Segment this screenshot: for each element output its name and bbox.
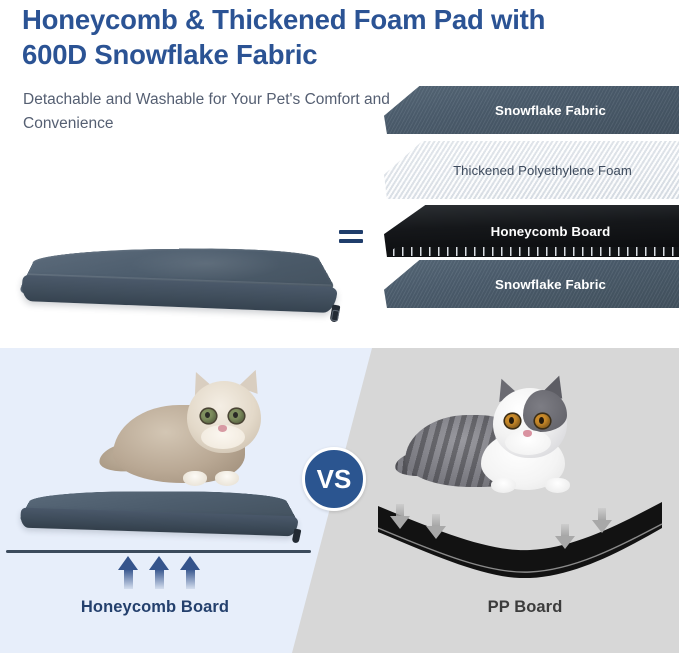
- layer-snowflake-fabric-bottom: Snowflake Fabric: [384, 260, 679, 308]
- layer-label: Honeycomb Board: [453, 224, 611, 239]
- zipper-pull-icon: [330, 304, 341, 322]
- layer-thickened-polyethylene-foam: Thickened Polyethylene Foam: [384, 141, 679, 199]
- layer-label: Snowflake Fabric: [457, 103, 606, 118]
- cat-left-image: [97, 363, 272, 503]
- layer-stack-diagram: Snowflake Fabric Thickened Polyethylene …: [384, 86, 679, 312]
- arrow-down-icon: [426, 514, 446, 540]
- assembled-pad-image: [10, 205, 355, 330]
- layer-honeycomb-board: Honeycomb Board: [384, 205, 679, 257]
- honeycomb-corrugation: [384, 247, 679, 256]
- comparison-right-label: PP Board: [380, 598, 670, 617]
- equals-sign-icon: [339, 230, 363, 246]
- cat-eye-left: [505, 414, 520, 428]
- cat-eye-right: [229, 409, 244, 423]
- arrow-down-icon: [592, 508, 612, 534]
- baseline-rule-left: [6, 550, 311, 553]
- layer-label: Snowflake Fabric: [457, 277, 606, 292]
- arrow-up-icon: [180, 556, 201, 589]
- layer-label: Thickened Polyethylene Foam: [431, 163, 632, 178]
- upward-force-arrows: [118, 556, 203, 590]
- page-title: Honeycomb & Thickened Foam Pad with 600D…: [22, 2, 582, 72]
- page-subtitle: Detachable and Washable for Your Pet's C…: [23, 88, 423, 136]
- cat-right-image: [395, 370, 595, 515]
- zipper-pull-icon: [292, 528, 302, 543]
- cat-eye-right: [535, 414, 550, 428]
- cat-paw-right: [545, 478, 570, 493]
- top-section: Honeycomb & Thickened Foam Pad with 600D…: [0, 0, 679, 348]
- cat-paw-left: [183, 471, 207, 486]
- comparison-left-label: Honeycomb Board: [0, 598, 310, 617]
- cat-nose: [523, 430, 532, 437]
- cat-paw-left: [491, 478, 516, 493]
- cat-eye-left: [201, 409, 216, 423]
- cat-nose: [218, 425, 227, 432]
- arrow-up-icon: [149, 556, 170, 589]
- arrow-up-icon: [118, 556, 139, 589]
- infographic-root: Honeycomb & Thickened Foam Pad with 600D…: [0, 0, 679, 653]
- layer-snowflake-fabric-top: Snowflake Fabric: [384, 86, 679, 134]
- vs-badge: VS: [302, 447, 366, 511]
- arrow-down-icon: [555, 524, 575, 550]
- cat-paw-right: [215, 471, 239, 486]
